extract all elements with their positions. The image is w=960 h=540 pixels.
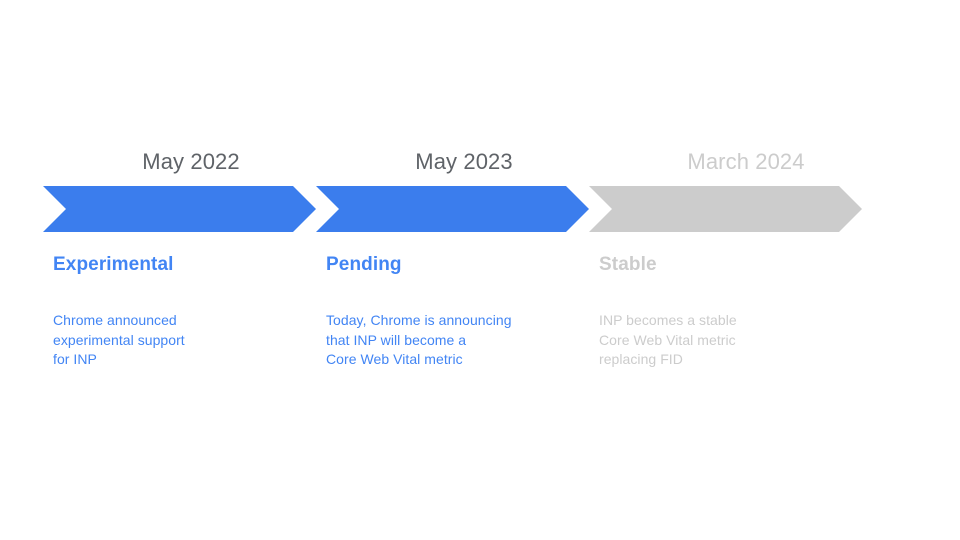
description-line: that INP will become a <box>326 331 588 351</box>
description-line: INP becomes a stable <box>599 311 861 331</box>
stage-date-label: May 2022 <box>66 148 316 176</box>
stage-description: Today, Chrome is announcing that INP wil… <box>326 311 588 370</box>
chevron-arrow-stage-3 <box>589 186 862 232</box>
stage-heading-label: Pending <box>326 252 402 278</box>
description-line: replacing FID <box>599 350 861 370</box>
chevron-shape <box>43 186 316 232</box>
description-line: Chrome announced <box>53 311 315 331</box>
stage-date-label: March 2024 <box>612 148 880 176</box>
description-line: experimental support <box>53 331 315 351</box>
chevron-arrow-stage-2 <box>316 186 589 232</box>
description-line: Core Web Vital metric <box>599 331 861 351</box>
stage-description: INP becomes a stable Core Web Vital metr… <box>599 311 861 370</box>
chevron-shape <box>316 186 589 232</box>
chevron-shape <box>589 186 862 232</box>
stage-heading-label: Stable <box>599 252 657 278</box>
description-line: Core Web Vital metric <box>326 350 588 370</box>
stage-date-label: May 2023 <box>339 148 589 176</box>
description-line: for INP <box>53 350 315 370</box>
stage-heading-label: Experimental <box>53 252 174 278</box>
description-line: Today, Chrome is announcing <box>326 311 588 331</box>
chevron-arrow-stage-1 <box>43 186 316 232</box>
stage-description: Chrome announced experimental support fo… <box>53 311 315 370</box>
timeline-diagram: May 2022 Experimental Chrome announced e… <box>0 0 960 540</box>
